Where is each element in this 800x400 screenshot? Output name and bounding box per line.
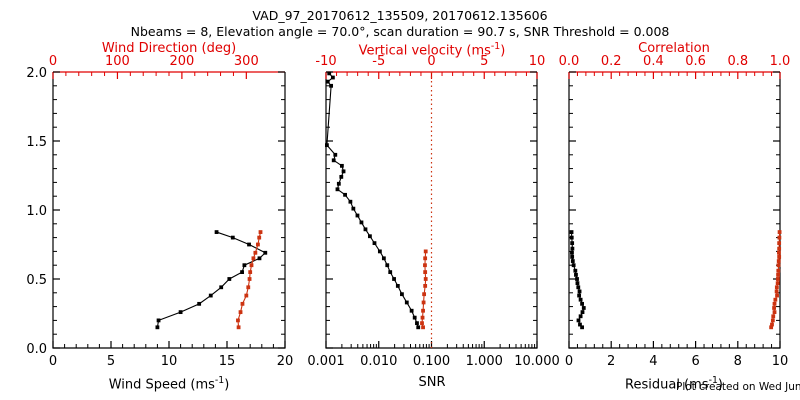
data-point-snr — [339, 175, 343, 179]
data-point-correlation — [773, 302, 777, 306]
panel-2-bottom-tick-label: 10.000 — [514, 354, 560, 369]
panel-3-bottom-tick-label: 10 — [772, 354, 789, 369]
data-point-wind-direction — [246, 285, 250, 289]
data-point-snr — [343, 193, 347, 197]
data-point-wind-speed — [247, 243, 251, 247]
data-point-wind-speed — [227, 277, 231, 281]
panel-1-bottom-axis-title: Wind Speed (ms-1) — [109, 375, 230, 392]
data-point-wind-direction — [257, 236, 261, 240]
data-point-snr — [378, 250, 382, 254]
y-axis-tick-label: 1.0 — [26, 204, 47, 219]
series-line-snr — [327, 73, 418, 327]
data-point-residual — [574, 273, 578, 277]
panel-1-top-tick-label: 200 — [169, 54, 194, 69]
data-point-snr — [329, 84, 333, 88]
data-point-snr — [336, 187, 340, 191]
data-point-correlation — [777, 247, 781, 251]
data-point-correlation — [771, 314, 775, 318]
data-point-correlation — [777, 255, 781, 259]
data-point-residual — [580, 325, 584, 329]
data-point-wind-direction — [250, 263, 254, 267]
data-point-correlation — [777, 241, 781, 245]
data-point-wind-speed — [215, 230, 219, 234]
data-point-snr — [340, 164, 344, 168]
panel-3-top-tick-label: 0.4 — [643, 54, 664, 69]
data-point-residual — [573, 269, 577, 273]
data-point-correlation — [775, 290, 779, 294]
data-point-wind-direction — [248, 270, 252, 274]
data-point-correlation — [771, 319, 775, 323]
data-point-wind-speed — [157, 319, 161, 323]
data-point-snr — [337, 182, 341, 186]
data-point-wind-speed — [240, 270, 244, 274]
data-point-wind-direction — [253, 251, 257, 255]
data-point-residual — [576, 281, 580, 285]
data-point-residual — [570, 241, 574, 245]
panel-1-bottom-tick-label: 20 — [277, 354, 294, 369]
data-point-residual — [575, 277, 579, 281]
panel-2-top-axis-title: Vertical velocity (ms-1) — [359, 41, 506, 58]
panel-1-bottom-tick-label: 5 — [107, 354, 115, 369]
data-point-residual — [570, 236, 574, 240]
data-point-snr — [325, 143, 329, 147]
data-point-snr — [368, 234, 372, 238]
data-point-wind-direction — [252, 256, 256, 260]
data-point-correlation — [775, 285, 779, 289]
data-point-snr — [333, 153, 337, 157]
data-point-snr — [351, 207, 355, 211]
data-point-correlation — [777, 236, 781, 240]
data-point-snr — [356, 214, 360, 218]
data-point-vertical-velocity — [421, 309, 425, 313]
panel-3-top-tick-label: 0.2 — [601, 54, 622, 69]
panel-3-bottom-axis-title: Residual (ms-1) — [625, 375, 723, 392]
data-point-residual — [579, 298, 583, 302]
panel-2-bottom-tick-label: 0.001 — [307, 354, 344, 369]
data-point-snr — [364, 227, 368, 231]
data-point-residual — [579, 314, 583, 318]
data-point-wind-speed — [258, 256, 262, 260]
panel-2-top-tick-label: 10 — [529, 54, 546, 69]
data-point-correlation — [777, 263, 781, 267]
data-point-snr — [416, 325, 420, 329]
data-point-snr — [348, 200, 352, 204]
data-point-correlation — [777, 251, 781, 255]
panel-3-top-axis-title: Correlation — [638, 41, 710, 56]
data-point-wind-direction — [259, 230, 263, 234]
data-point-residual — [577, 319, 581, 323]
data-point-snr — [326, 80, 330, 84]
panel-3-bottom-tick-label: 8 — [734, 354, 742, 369]
panel-3-top-tick-label: 0.0 — [559, 54, 580, 69]
data-point-wind-speed — [231, 236, 235, 240]
data-point-vertical-velocity — [424, 250, 428, 254]
data-point-vertical-velocity — [421, 316, 425, 320]
panel-3-top-tick-label: 1.0 — [770, 54, 791, 69]
data-point-snr — [342, 169, 346, 173]
data-point-residual — [572, 263, 576, 267]
panel-1-top-axis-title: Wind Direction (deg) — [102, 41, 236, 56]
data-point-wind-speed — [179, 310, 183, 314]
data-point-vertical-velocity — [423, 256, 427, 260]
data-point-snr — [396, 284, 400, 288]
data-point-snr — [360, 221, 364, 225]
panel-1-frame — [53, 72, 285, 348]
plot-canvas: 0100200300051015200.00.51.01.52.0-10-505… — [0, 0, 800, 400]
data-point-wind-speed — [197, 302, 201, 306]
data-point-vertical-velocity — [423, 284, 427, 288]
data-point-residual — [582, 306, 586, 310]
panel-2-bottom-axis-title: SNR — [418, 375, 445, 390]
panel-3-top-tick-label: 0.6 — [685, 54, 706, 69]
panel-1-top-tick-label: 0 — [49, 54, 57, 69]
data-point-snr — [413, 316, 417, 320]
data-point-wind-speed — [209, 294, 213, 298]
data-point-wind-direction — [239, 310, 243, 314]
data-point-vertical-velocity — [422, 301, 426, 305]
data-point-residual — [577, 294, 581, 298]
data-point-correlation — [769, 325, 773, 329]
data-point-residual — [571, 259, 575, 263]
data-point-residual — [570, 230, 574, 234]
panel-3-bottom-tick-label: 6 — [691, 354, 699, 369]
data-point-residual — [570, 255, 574, 259]
data-point-snr — [382, 256, 386, 260]
panel-2-bottom-tick-label: 0.010 — [360, 354, 397, 369]
panel-3-top-tick-label: 0.8 — [727, 54, 748, 69]
data-point-snr — [415, 321, 419, 325]
data-point-snr — [392, 277, 396, 281]
panel-1-bottom-tick-label: 15 — [219, 354, 236, 369]
data-point-wind-direction — [244, 294, 248, 298]
panel-2-bottom-tick-label: 0.100 — [413, 354, 450, 369]
data-point-correlation — [777, 259, 781, 263]
data-point-correlation — [773, 310, 777, 314]
data-point-correlation — [772, 306, 776, 310]
data-point-residual — [570, 247, 574, 251]
data-point-wind-speed — [156, 325, 160, 329]
panel-1-top-tick-label: 300 — [234, 54, 259, 69]
data-point-wind-speed — [219, 285, 223, 289]
panel-3-bottom-tick-label: 2 — [607, 354, 615, 369]
data-point-snr — [332, 158, 336, 162]
data-point-residual — [581, 310, 585, 314]
data-point-snr — [373, 241, 377, 245]
panel-2-top-tick-label: -10 — [315, 54, 336, 69]
data-point-snr — [400, 292, 404, 296]
data-point-snr — [331, 76, 335, 80]
y-axis-tick-label: 1.5 — [26, 135, 47, 150]
data-point-vertical-velocity — [421, 325, 425, 329]
data-point-residual — [570, 251, 574, 255]
data-point-correlation — [775, 294, 779, 298]
data-point-snr — [327, 71, 331, 75]
y-axis-tick-label: 2.0 — [26, 66, 47, 81]
data-point-wind-speed — [243, 263, 247, 267]
data-point-vertical-velocity — [424, 277, 428, 281]
panel-2-bottom-tick-label: 1.000 — [466, 354, 503, 369]
data-point-wind-direction — [237, 325, 241, 329]
data-point-wind-speed — [263, 251, 267, 255]
data-point-vertical-velocity — [423, 263, 427, 267]
data-point-snr — [385, 263, 389, 267]
data-point-snr — [405, 301, 409, 305]
y-axis-tick-label: 0.5 — [26, 273, 47, 288]
vad-plot-figure: VAD_97_20170612_135509, 20170612.135606 … — [0, 0, 800, 400]
panel-3-bottom-tick-label: 0 — [565, 354, 573, 369]
data-point-residual — [576, 285, 580, 289]
panel-3-frame — [569, 72, 780, 348]
data-point-wind-direction — [236, 319, 240, 323]
data-point-correlation — [776, 277, 780, 281]
data-point-correlation — [776, 281, 780, 285]
panel-3-bottom-tick-label: 4 — [649, 354, 657, 369]
data-point-vertical-velocity — [422, 292, 426, 296]
data-point-wind-direction — [256, 243, 260, 247]
data-point-vertical-velocity — [423, 270, 427, 274]
panel-1-bottom-tick-label: 0 — [49, 354, 57, 369]
data-point-vertical-velocity — [420, 321, 424, 325]
data-point-wind-direction — [248, 277, 252, 281]
data-point-residual — [578, 290, 582, 294]
panel-1-bottom-tick-label: 10 — [161, 354, 178, 369]
data-point-snr — [410, 309, 414, 313]
data-point-wind-direction — [241, 302, 245, 306]
data-point-correlation — [776, 273, 780, 277]
panel-1-top-tick-label: 100 — [105, 54, 130, 69]
data-point-correlation — [778, 230, 782, 234]
data-point-correlation — [776, 269, 780, 273]
data-point-correlation — [773, 298, 777, 302]
data-point-snr — [388, 270, 392, 274]
y-axis-tick-label: 0.0 — [26, 342, 47, 357]
data-point-residual — [580, 302, 584, 306]
